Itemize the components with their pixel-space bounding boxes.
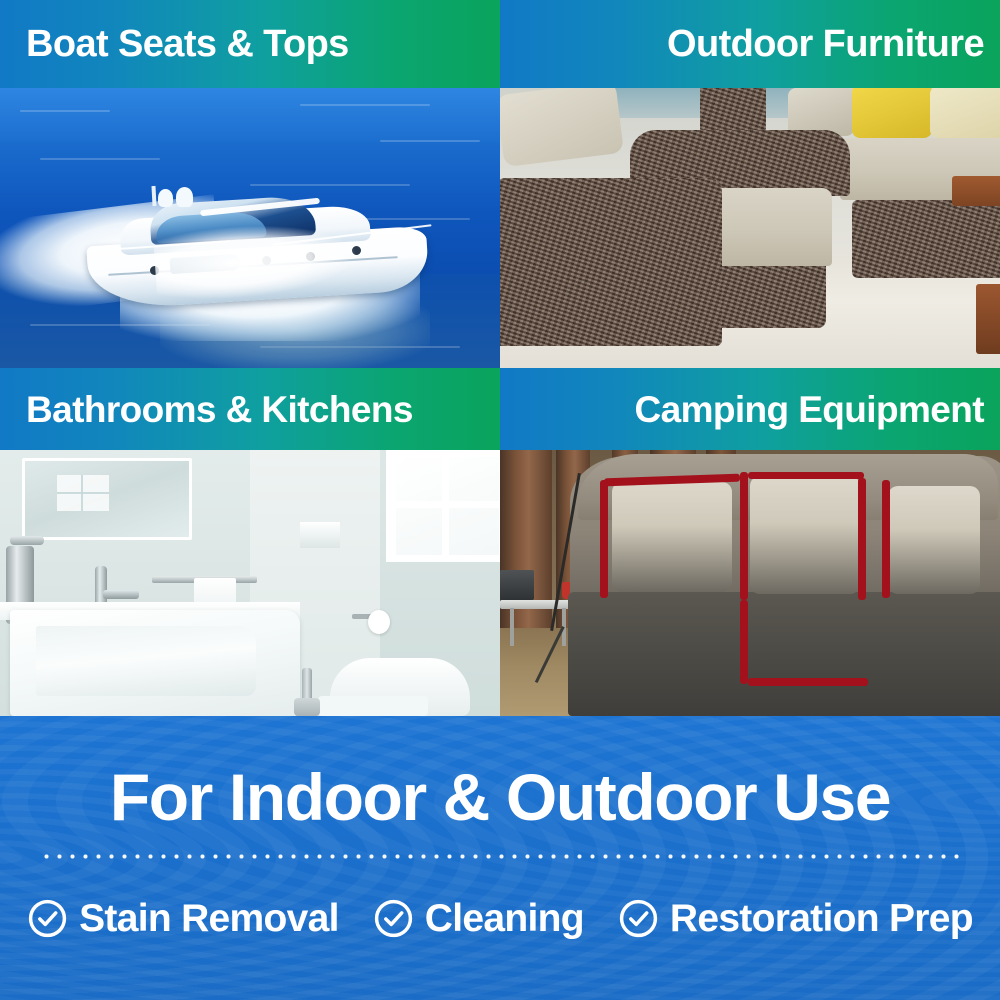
check-circle-icon [618,898,659,939]
wicker-sofa-base [852,200,1000,278]
category-title: Outdoor Furniture [667,25,984,63]
wood-side-table [976,284,1000,354]
sea-band [0,88,500,148]
page-headline: For Indoor & Outdoor Use [0,764,1000,830]
toilet-paper-roll [368,610,390,634]
category-grid: Boat Seats & Tops [0,0,1000,716]
boat-radar-dome [176,187,193,207]
tent-red-trim [858,478,866,600]
wood-side-table [952,176,1000,206]
brown-wicker-patio-furniture-photo [500,88,1000,368]
water-ripple [380,140,480,142]
tent-red-trim [740,472,748,600]
category-title: Camping Equipment [634,391,984,428]
yellow-throw-pillow [852,88,932,138]
bathroom-mirror [22,458,192,540]
category-banner: Camping Equipment [500,368,1000,450]
toilet-base [318,696,428,716]
feature-badge-cleaning: Cleaning [373,898,584,939]
check-circle-icon [27,898,68,939]
tent-red-trim [882,480,890,598]
product-feature-infographic: Boat Seats & Tops [0,0,1000,1000]
category-banner: Boat Seats & Tops [0,0,500,88]
tent-red-trim [600,480,608,598]
feature-label: Restoration Prep [670,899,973,938]
category-cell-bathrooms-kitchens: Bathrooms & Kitchens [0,368,500,716]
soap-dispenser-pump [10,536,44,545]
wall-shelf [300,522,340,548]
feature-badge-restoration-prep: Restoration Prep [618,898,973,939]
water-ripple [300,104,430,106]
sink-basin [36,626,256,696]
feature-badge-stain-removal: Stain Removal [27,898,339,939]
check-circle-icon [373,898,414,939]
window-reflection [57,475,109,511]
faucet-spout [103,590,139,599]
tent-mesh-window [888,486,980,594]
wicker-chair-arm [500,178,722,346]
category-title: Boat Seats & Tops [26,25,349,63]
tent-mesh-window [750,476,860,594]
chair-back-pillow [500,88,624,167]
tent-red-trim [740,600,748,684]
camp-stove [500,570,534,600]
water-ripple [20,110,110,112]
window-mullion [396,501,500,508]
camp-table-leg [510,608,514,646]
bow-spray-foam [153,219,357,303]
patterned-throw-pillow [930,88,1000,138]
throw-pillow [788,88,854,136]
family-tent-in-forest-campsite-photo [500,450,1000,716]
water-ripple [40,158,160,160]
bathroom-window [386,450,500,562]
tent-red-trim [748,472,864,479]
feature-badge-list: Stain Removal Cleaning Restoration Prep [0,898,1000,939]
pine-tree-trunk [500,450,552,650]
white-modern-bathroom-sink-photo [0,450,500,716]
water-ripple [250,184,410,186]
feature-label: Cleaning [425,899,584,938]
toilet-brush-holder [294,698,320,716]
category-banner: Bathrooms & Kitchens [0,368,500,450]
tent-mesh-window [612,482,732,592]
category-banner: Outdoor Furniture [500,0,1000,88]
category-cell-boat-seats-tops: Boat Seats & Tops [0,0,500,368]
boat-radar-dome [158,189,173,207]
category-cell-camping-equipment: Camping Equipment [500,368,1000,716]
tent-red-trim [748,678,868,686]
dotted-divider [40,854,960,859]
speedboat-on-blue-ocean-photo [0,88,500,368]
feature-label: Stain Removal [79,899,339,938]
category-title: Bathrooms & Kitchens [26,391,413,428]
category-cell-outdoor-furniture: Outdoor Furniture [500,0,1000,368]
wicker-basket [700,88,766,132]
usage-banner: For Indoor & Outdoor Use Stain Removal C… [0,716,1000,1000]
tent-lower-wall [568,592,1000,716]
